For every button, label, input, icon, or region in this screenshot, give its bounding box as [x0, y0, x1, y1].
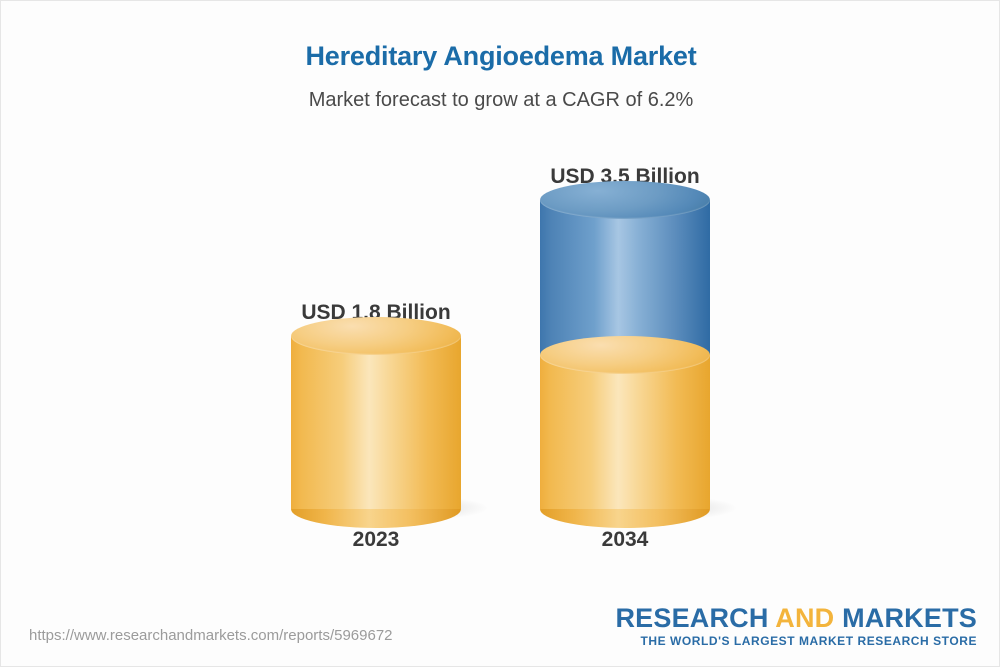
brand-wordmark-research: RESEARCH — [615, 603, 775, 633]
cylinder-top-ellipse — [291, 317, 461, 355]
cylinder-segment-blue — [540, 200, 710, 355]
category-label-2023: 2023 — [291, 528, 461, 552]
brand-wordmark: RESEARCH AND MARKETS — [615, 604, 977, 632]
chart-plot-area: USD 1.8 Billion USD 3.5 Billion — [1, 1, 999, 666]
cylinder-division-ellipse — [540, 336, 710, 374]
cylinder-body — [291, 336, 461, 509]
source-url[interactable]: https://www.researchandmarkets.com/repor… — [29, 627, 393, 644]
bar-group-2023: USD 1.8 Billion — [291, 301, 461, 509]
cylinder-body — [540, 200, 710, 355]
cylinder-top-ellipse — [540, 181, 710, 219]
category-label-2034: 2034 — [540, 528, 710, 552]
cylinder-body — [540, 355, 710, 509]
brand-wordmark-markets: MARKETS — [842, 603, 977, 633]
cylinder-segment-yellow — [291, 336, 461, 509]
cylinder-segment-yellow — [540, 355, 710, 509]
market-infographic: Hereditary Angioedema Market Market fore… — [0, 0, 1000, 667]
brand-tagline: THE WORLD'S LARGEST MARKET RESEARCH STOR… — [615, 634, 977, 648]
bar-group-2034: USD 3.5 Billion — [540, 165, 710, 509]
cylinder-2034 — [540, 200, 710, 509]
brand-wordmark-and: AND — [775, 603, 842, 633]
brand-logo[interactable]: RESEARCH AND MARKETS THE WORLD'S LARGEST… — [615, 604, 977, 648]
cylinder-2023 — [291, 336, 461, 509]
